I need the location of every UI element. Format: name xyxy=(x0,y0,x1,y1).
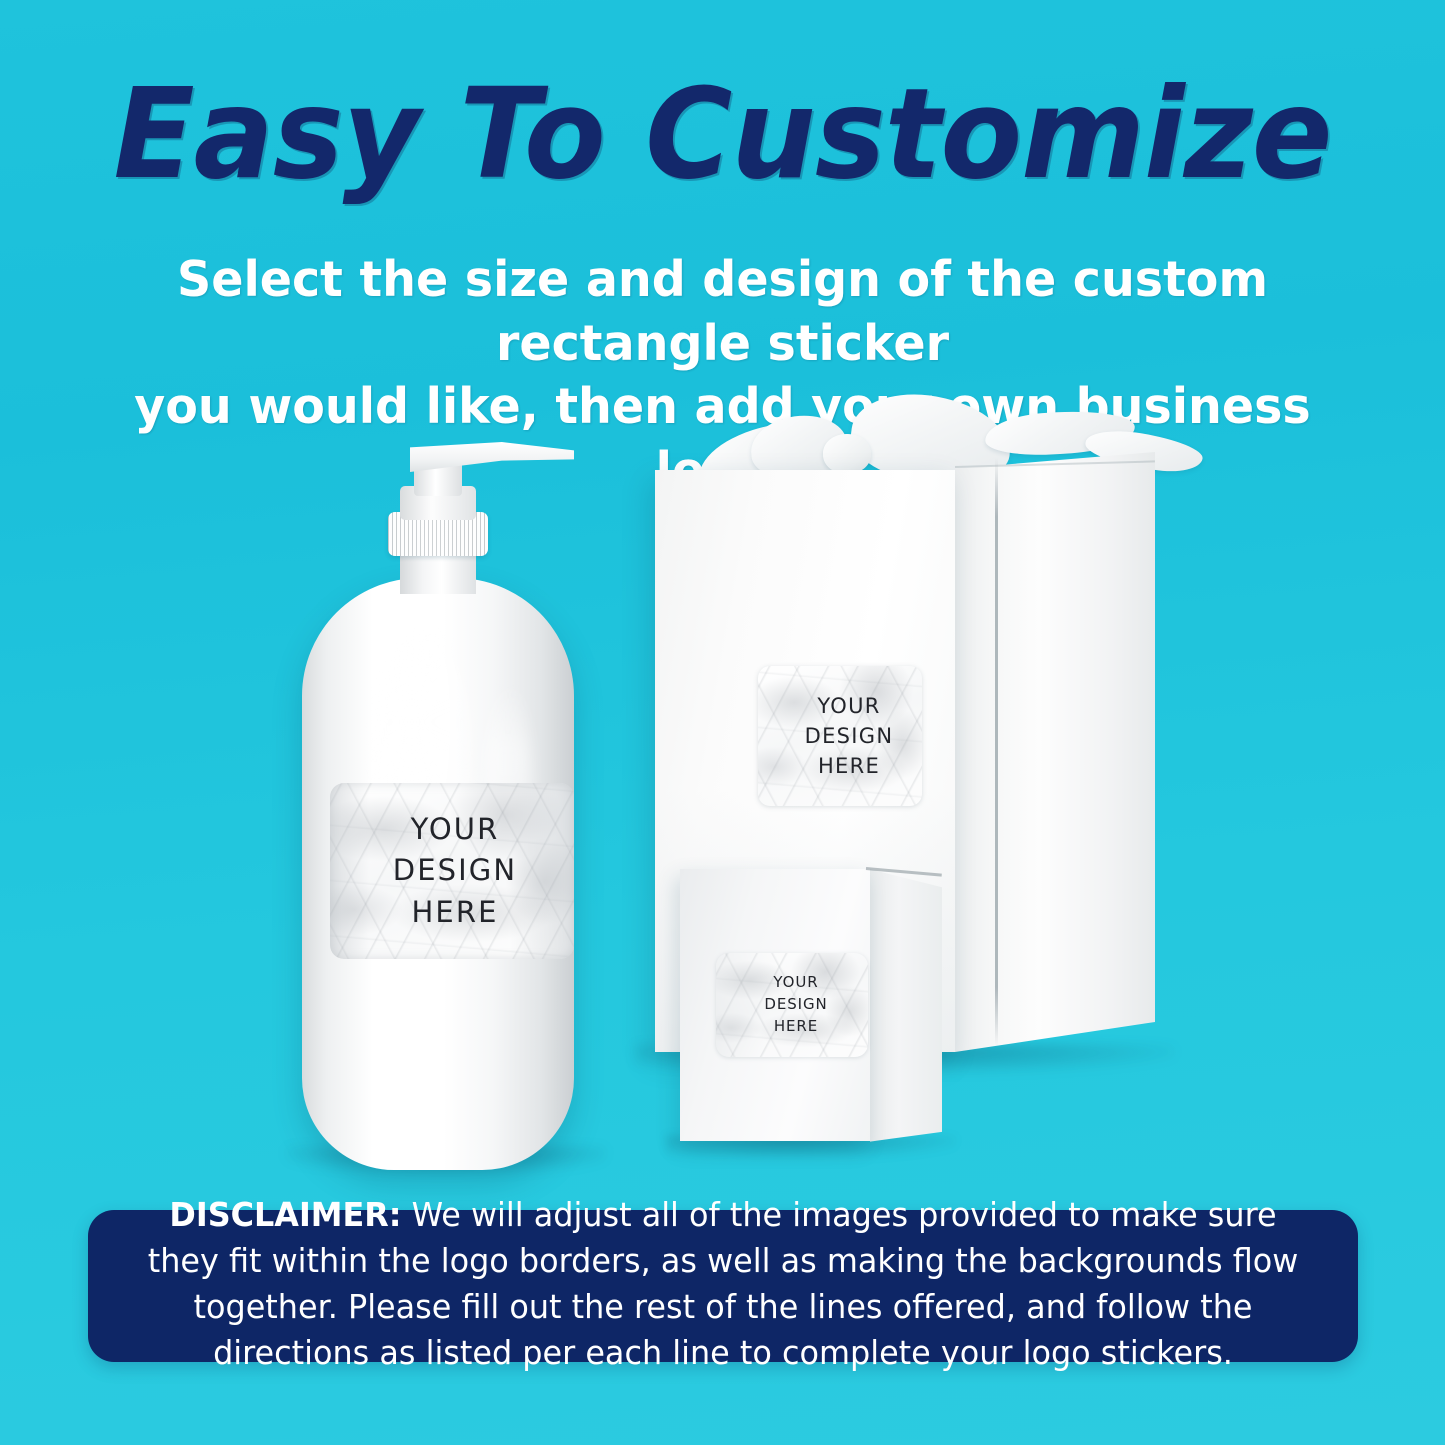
sticker-line-1: YOUR xyxy=(411,809,500,850)
sticker-gift-box-text: YOUR DESIGN HERE xyxy=(758,666,922,806)
sticker-cube-box: YOUR DESIGN HERE xyxy=(716,953,868,1057)
disclaimer-text: DISCLAIMER: We will adjust all of the im… xyxy=(134,1192,1312,1377)
sticker-cube-box-text: YOUR DESIGN HERE xyxy=(716,953,868,1057)
sticker-line-1: YOUR xyxy=(817,691,880,721)
gift-box-side-panel xyxy=(955,452,1155,1052)
sticker-line-3: HERE xyxy=(818,751,880,781)
sticker-bottle-label: YOUR DESIGN HERE xyxy=(330,783,574,959)
cube-box-side-panel xyxy=(870,865,942,1143)
sticker-gift-box: YOUR DESIGN HERE xyxy=(758,666,922,806)
sticker-line-1: YOUR xyxy=(773,972,818,994)
sticker-line-2: DESIGN xyxy=(393,850,517,891)
promo-graphic: Easy To Customize Select the size and de… xyxy=(0,0,1445,1445)
gift-box-seam xyxy=(995,458,998,1046)
sticker-bottle-label-text: YOUR DESIGN HERE xyxy=(330,783,574,959)
sticker-line-2: DESIGN xyxy=(764,994,827,1016)
bottle-pump-nozzle xyxy=(410,442,574,472)
disclaimer-label: DISCLAIMER: xyxy=(169,1196,401,1234)
sticker-line-2: DESIGN xyxy=(805,721,894,751)
disclaimer-banner: DISCLAIMER: We will adjust all of the im… xyxy=(88,1210,1358,1362)
sticker-line-3: HERE xyxy=(411,892,498,933)
sticker-line-3: HERE xyxy=(774,1016,818,1038)
